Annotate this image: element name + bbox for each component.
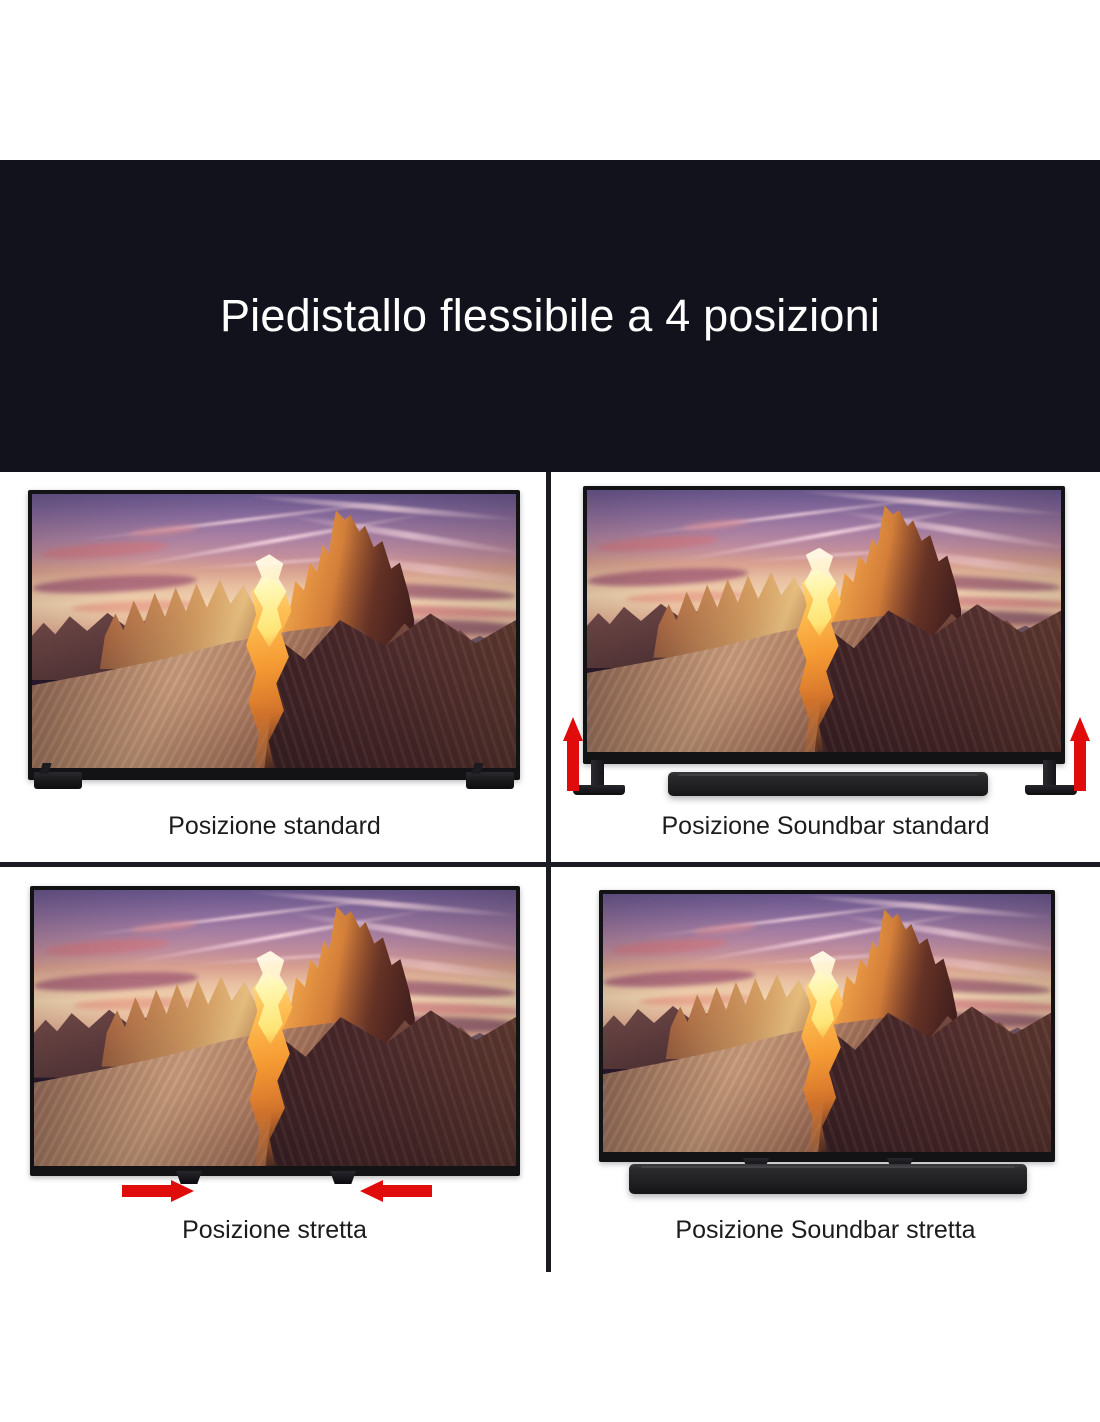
panel-soundbar-narrow: Posizione Soundbar stretta [551, 868, 1100, 1262]
stand-foot-left [34, 772, 82, 789]
screen-vignette [32, 494, 516, 768]
panel-caption-soundbar-narrow: Posizione Soundbar stretta [551, 1216, 1100, 1245]
hero-banner: Piedistallo flessibile a 4 posizioni [0, 160, 1100, 472]
panel-divider-horizontal [0, 862, 1100, 867]
soundbar [668, 772, 988, 796]
tv-screen [587, 490, 1061, 752]
position-grid: Posizione standard [0, 472, 1100, 1272]
arrow-up-left-icon [563, 717, 583, 791]
product-feature-graphic: Piedistallo flessibile a 4 posizioni [0, 0, 1100, 1422]
arrow-left-inward-icon [360, 1180, 432, 1202]
stand-foot-right [466, 772, 514, 789]
panel-standard: Posizione standard [0, 472, 549, 866]
tv-screen [34, 890, 516, 1166]
panel-caption-standard: Posizione standard [0, 812, 549, 841]
tv-chassis [583, 486, 1065, 764]
panel-caption-narrow: Posizione stretta [0, 1216, 549, 1245]
page-title: Piedistallo flessibile a 4 posizioni [220, 290, 880, 342]
panel-soundbar-standard: Posizione Soundbar standard [551, 472, 1100, 866]
panel-divider-vertical [546, 472, 551, 1272]
panel-caption-soundbar-standard: Posizione Soundbar standard [551, 812, 1100, 841]
screen-vignette [603, 894, 1051, 1152]
stand-foot-narrow-right [330, 1171, 356, 1184]
screen-vignette [587, 490, 1061, 752]
tv-chassis [28, 490, 520, 780]
arrow-right-inward-icon [122, 1180, 194, 1202]
soundbar [629, 1164, 1027, 1194]
tv-screen [32, 494, 516, 768]
arrow-up-right-icon [1070, 717, 1090, 791]
panel-narrow: Posizione stretta [0, 868, 549, 1262]
tv-chassis [599, 890, 1055, 1162]
tv-screen [603, 894, 1051, 1152]
screen-vignette [34, 890, 516, 1166]
tv-chassis [30, 886, 520, 1176]
